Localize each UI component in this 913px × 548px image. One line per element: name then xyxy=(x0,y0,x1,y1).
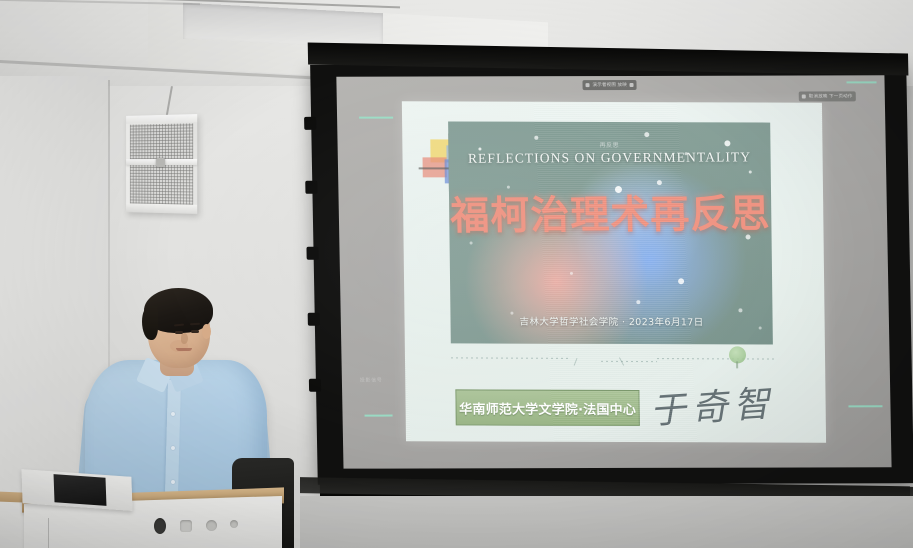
sketch-landscape-line xyxy=(451,351,777,372)
presenter-toolbar-pill[interactable]: 演示者视图 放映 xyxy=(582,80,637,90)
bokeh-particle xyxy=(749,170,752,173)
slide-canvas[interactable]: 再反思 REFLECTIONS ON GOVERNMENTALITY 福柯治理术… xyxy=(402,101,826,442)
alignment-tick xyxy=(847,81,877,83)
monitor-icon xyxy=(585,83,589,87)
slideshow-control-label: 取消放映 下一页动作 xyxy=(809,93,853,99)
floor-area xyxy=(300,496,913,548)
slide-subtitle: 吉林大学哲学社会学院 · 2023年6月17日 xyxy=(450,313,772,328)
surface-signal-note: 投影信号 xyxy=(360,377,383,384)
slide-hero-image: 再反思 REFLECTIONS ON GOVERNMENTALITY 福柯治理术… xyxy=(448,121,773,344)
speaker-mount-knob xyxy=(156,158,165,167)
tree-trunk xyxy=(736,361,738,368)
screen-tension-hook xyxy=(308,313,320,326)
lectern-monitor-screen[interactable] xyxy=(54,474,107,506)
presenter-mouth xyxy=(176,348,192,351)
presenter-nose xyxy=(181,333,188,344)
shirt-button xyxy=(171,412,175,416)
bokeh-particle xyxy=(738,308,742,312)
bokeh-particle xyxy=(644,132,649,137)
screen-tension-hook xyxy=(304,117,316,130)
bokeh-particle xyxy=(678,278,684,284)
screen-black-frame: 投影信号 演示者视图 放映 取消放映 下一页动作 xyxy=(310,63,913,484)
bokeh-particle xyxy=(570,272,573,275)
alignment-tick xyxy=(359,117,393,119)
screen-tension-hook xyxy=(309,379,321,392)
lectern-panel-seam xyxy=(48,518,49,548)
screen-tension-hook xyxy=(305,181,317,194)
lectern-control-button[interactable] xyxy=(206,520,217,531)
presenter-ear xyxy=(202,324,211,339)
slide-english-title: REFLECTIONS ON GOVERNMENTALITY xyxy=(448,149,770,167)
sketch-dash-mid xyxy=(601,361,657,362)
presenter-toolbar-label: 演示者视图 放映 xyxy=(592,82,626,88)
speaker-top-trim xyxy=(126,114,197,124)
lectern-control-button[interactable] xyxy=(230,520,238,528)
lectern-control-button[interactable] xyxy=(180,520,192,532)
sketch-valley-left xyxy=(574,358,578,366)
slide-affiliation-label: 华南师范大学文学院·法国中心 xyxy=(459,398,636,418)
play-icon xyxy=(630,83,634,87)
sketch-dash-right xyxy=(657,358,775,359)
screenshot-root: 投影信号 演示者视图 放映 取消放映 下一页动作 xyxy=(0,0,913,548)
lectern xyxy=(0,472,284,548)
speaker-bottom-trim xyxy=(126,203,197,214)
sketch-dash-left xyxy=(451,357,571,358)
bokeh-particle xyxy=(470,241,473,244)
exit-icon xyxy=(802,95,806,99)
presenter-hair-side xyxy=(142,306,158,340)
wall-speaker xyxy=(126,114,197,214)
slide-affiliation-banner: 华南师范大学文学院·法国中心 xyxy=(455,389,639,426)
handwritten-signature: 于奇智 xyxy=(647,374,781,440)
alignment-tick xyxy=(848,405,882,407)
shirt-button xyxy=(171,446,175,450)
alignment-tick xyxy=(365,415,393,417)
bokeh-particle xyxy=(636,300,640,304)
projection-screen-assembly: 投影信号 演示者视图 放映 取消放映 下一页动作 xyxy=(310,50,913,495)
presenter-eye-right xyxy=(191,330,199,333)
screen-projection-surface: 投影信号 演示者视图 放映 取消放映 下一页动作 xyxy=(336,75,891,468)
lectern-control-knob[interactable] xyxy=(154,518,166,534)
slideshow-control-pill[interactable]: 取消放映 下一页动作 xyxy=(799,91,856,101)
slide-kicker-text: 再反思 xyxy=(448,139,770,149)
slide-chinese-title: 福柯治理术再反思 xyxy=(449,183,772,241)
screen-tension-hook xyxy=(306,247,318,260)
